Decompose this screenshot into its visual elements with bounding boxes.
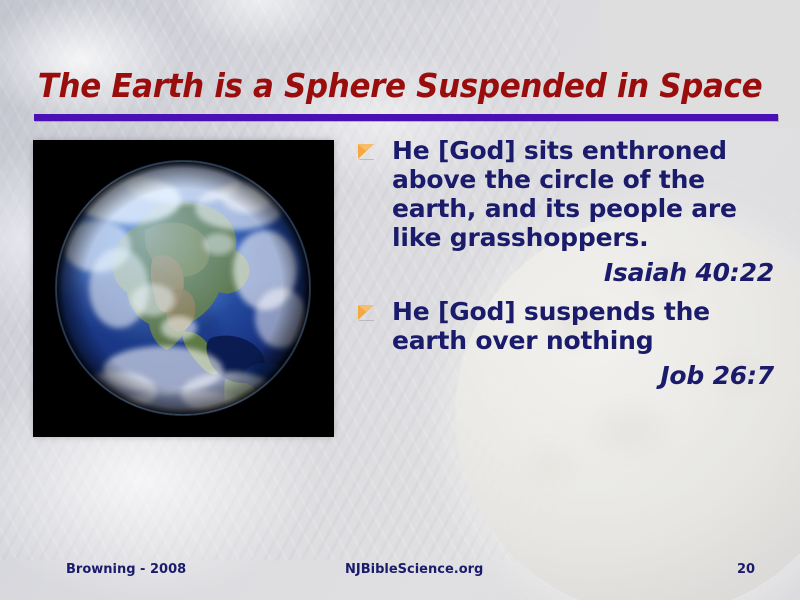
page-title: The Earth is a Sphere Suspended in Space bbox=[24, 66, 776, 105]
footer-page-number: 20 bbox=[737, 562, 755, 577]
citation-1: Isaiah 40:22 bbox=[352, 258, 782, 287]
bullet-item-2: He [God] suspends the earth over nothing bbox=[352, 297, 782, 355]
background-gray-panel bbox=[600, 0, 800, 128]
title-underline-rule bbox=[34, 114, 778, 121]
triangle-bullet-icon bbox=[358, 144, 375, 160]
earth-photo bbox=[33, 140, 334, 437]
bullet-item-1: He [God] sits enthroned above the circle… bbox=[352, 136, 782, 252]
citation-2: Job 26:7 bbox=[352, 361, 782, 390]
content-body: He [God] sits enthroned above the circle… bbox=[352, 136, 782, 400]
footer-author: Browning - 2008 bbox=[66, 562, 186, 577]
slide-canvas: The Earth is a Sphere Suspended in Space bbox=[0, 0, 800, 600]
slide-footer: Browning - 2008 NJBibleScience.org 20 bbox=[0, 562, 800, 582]
bullet-text-2: He [God] suspends the earth over nothing bbox=[392, 297, 782, 355]
bullet-text-1: He [God] sits enthroned above the circle… bbox=[392, 136, 782, 252]
title-block: The Earth is a Sphere Suspended in Space bbox=[0, 66, 800, 105]
triangle-bullet-icon bbox=[358, 305, 375, 321]
footer-website: NJBibleScience.org bbox=[345, 562, 483, 577]
earth-illustration bbox=[33, 140, 334, 437]
